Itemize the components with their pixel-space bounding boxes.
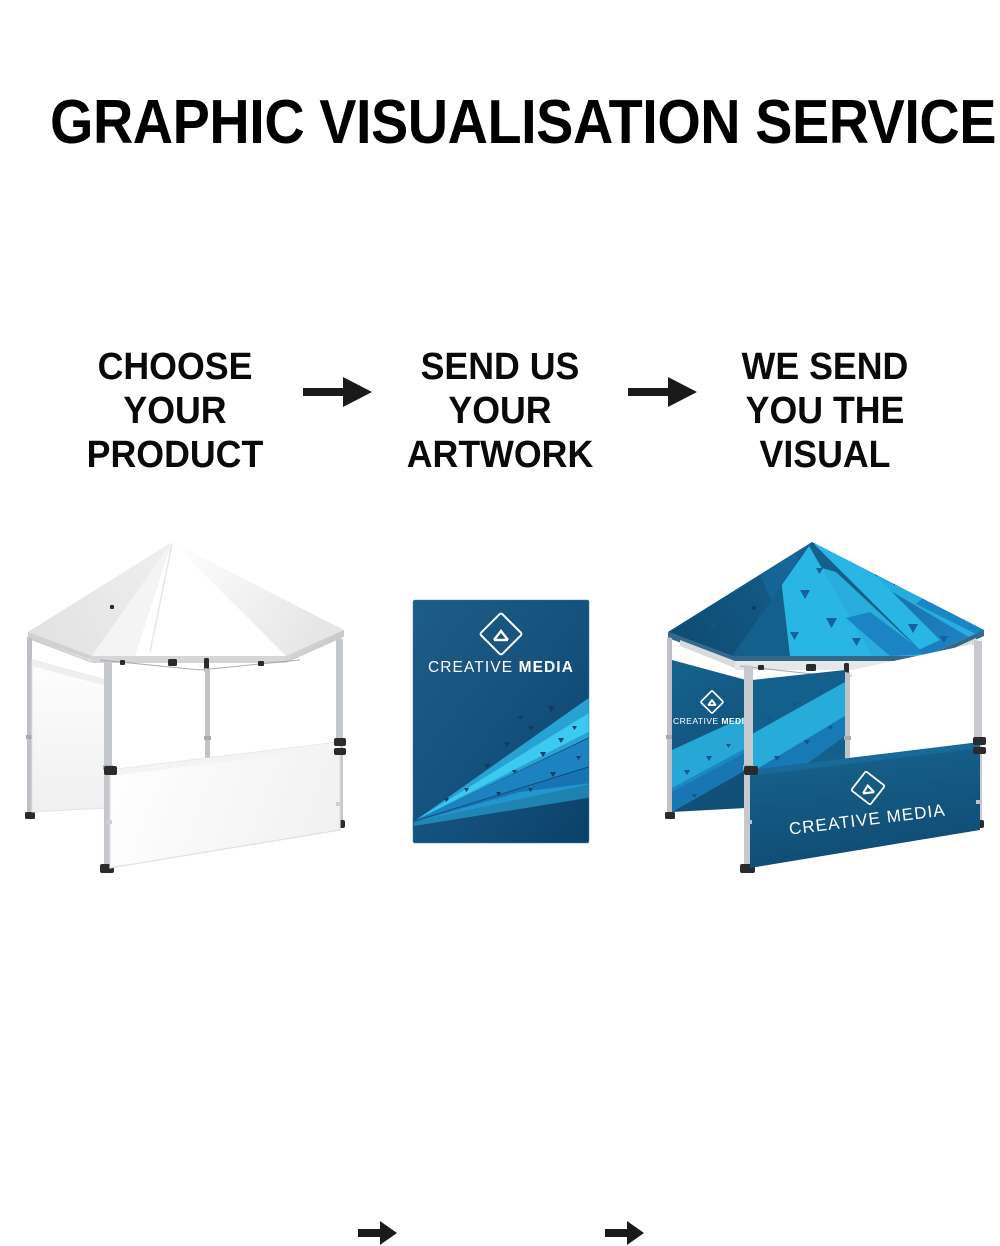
step2-line3: ARTWORK [392,433,608,477]
step2-line2: YOUR [392,389,608,433]
step-label-we-send-you-the-visual: WE SEND YOU THE VISUAL [717,345,933,477]
step3-line3: VISUAL [717,433,933,477]
step1-line1: CHOOSE [67,345,283,389]
step1-line2: YOUR [67,389,283,433]
step1-line3: PRODUCT [67,433,283,477]
arrow-right-icon [358,1220,398,1246]
arrow-right-icon [303,375,373,409]
arrow-right-icon [605,1220,645,1246]
printed-branded-gazebo-svg: CREATIVE MEDIA [640,520,1000,940]
poster-brand-text: CREATIVE MEDIA [428,659,574,676]
artwork-poster-svg: CREATIVE MEDIA [400,520,600,940]
step-arrow-1-cell [290,345,385,409]
step3-line2: YOU THE [717,389,933,433]
step3-line1: WE SEND [717,345,933,389]
step-label-choose-your-product: CHOOSE YOUR PRODUCT [67,345,283,477]
arrow-right-icon [628,375,698,409]
step2-line1: SEND US [392,345,608,389]
artwork-poster-image: CREATIVE MEDIA [400,520,600,940]
page-title: GRAPHIC VISUALISATION SERVICE [50,92,950,154]
step-arrow-2-cell [615,345,710,409]
product-visual-row: CREATIVE MEDIA [0,520,1000,940]
plain-white-gazebo-image [0,520,360,940]
steps-row: CHOOSE YOUR PRODUCT SEND US YOUR ARTWORK… [0,345,1000,495]
printed-branded-gazebo-image: CREATIVE MEDIA [640,520,1000,940]
side-wall-brand-text: CREATIVE MEDIA [673,716,751,726]
plain-white-gazebo-svg [0,520,360,940]
step-label-send-us-your-artwork: SEND US YOUR ARTWORK [392,345,608,477]
